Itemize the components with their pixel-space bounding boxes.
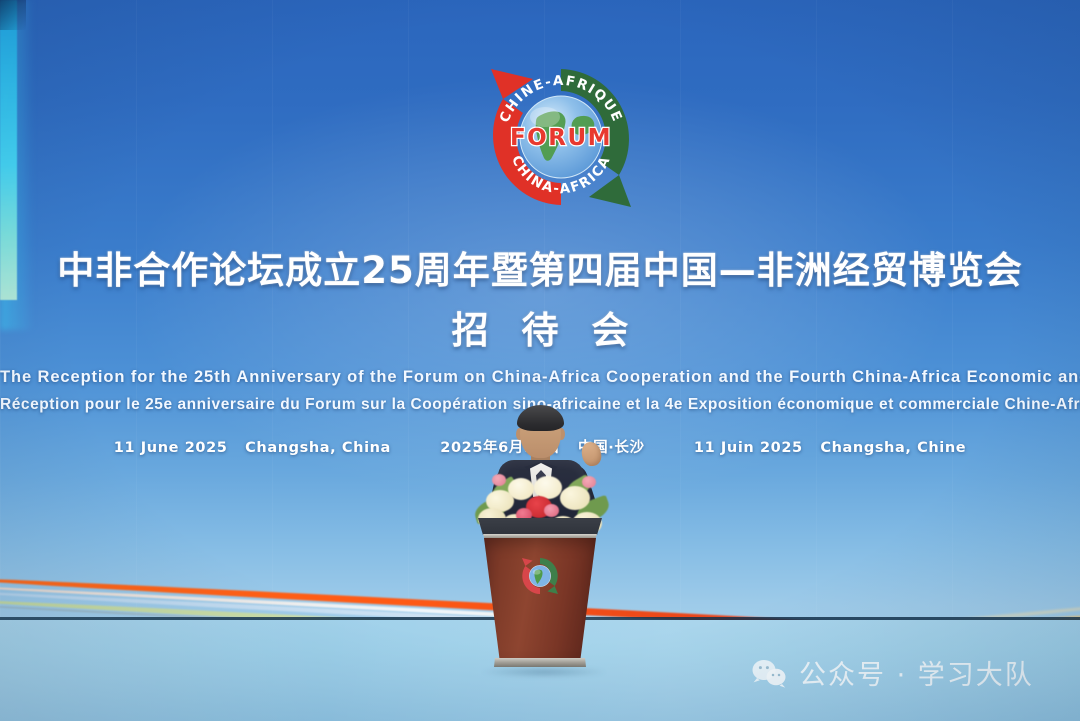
place-french: Changsha, Chine bbox=[820, 440, 966, 456]
title-english: The Reception for the 25th Anniversary o… bbox=[0, 368, 1080, 387]
podium-floor-shadow bbox=[456, 664, 632, 680]
backdrop-corner-shade bbox=[0, 0, 26, 30]
date-french: 11 Juin 2025 bbox=[694, 440, 803, 456]
title-chinese-sub: 招 待 会 bbox=[0, 300, 1080, 354]
title-chinese-main: 中非合作论坛成立25周年暨第四届中国—非洲经贸博览会 bbox=[0, 240, 1080, 294]
flower-accent-pink bbox=[544, 504, 559, 517]
watermark-text: 公众号 · 学习大队 bbox=[799, 653, 1034, 692]
speaker-hair bbox=[517, 405, 564, 431]
podium-top bbox=[478, 518, 602, 535]
podium-focac-emblem bbox=[520, 556, 560, 594]
flower-accent-pink bbox=[492, 474, 506, 486]
flower-petal bbox=[560, 486, 590, 510]
flower-accent-pink bbox=[582, 476, 596, 488]
flower-petal bbox=[508, 478, 534, 500]
date-english: 11 June 2025 bbox=[114, 440, 228, 456]
wechat-icon bbox=[752, 658, 786, 688]
place-english: Changsha, China bbox=[245, 440, 391, 456]
logo-forum-text: FORUM bbox=[510, 125, 612, 151]
focac-logo: FORUM CHINE-AFRIQUE CHINA-AFRICA bbox=[481, 57, 641, 217]
podium bbox=[478, 518, 602, 676]
screenshot-root: FORUM CHINE-AFRIQUE CHINA-AFRICA 中非合作论坛成… bbox=[0, 0, 1080, 721]
watermark: 公众号 · 学习大队 bbox=[752, 653, 1034, 692]
